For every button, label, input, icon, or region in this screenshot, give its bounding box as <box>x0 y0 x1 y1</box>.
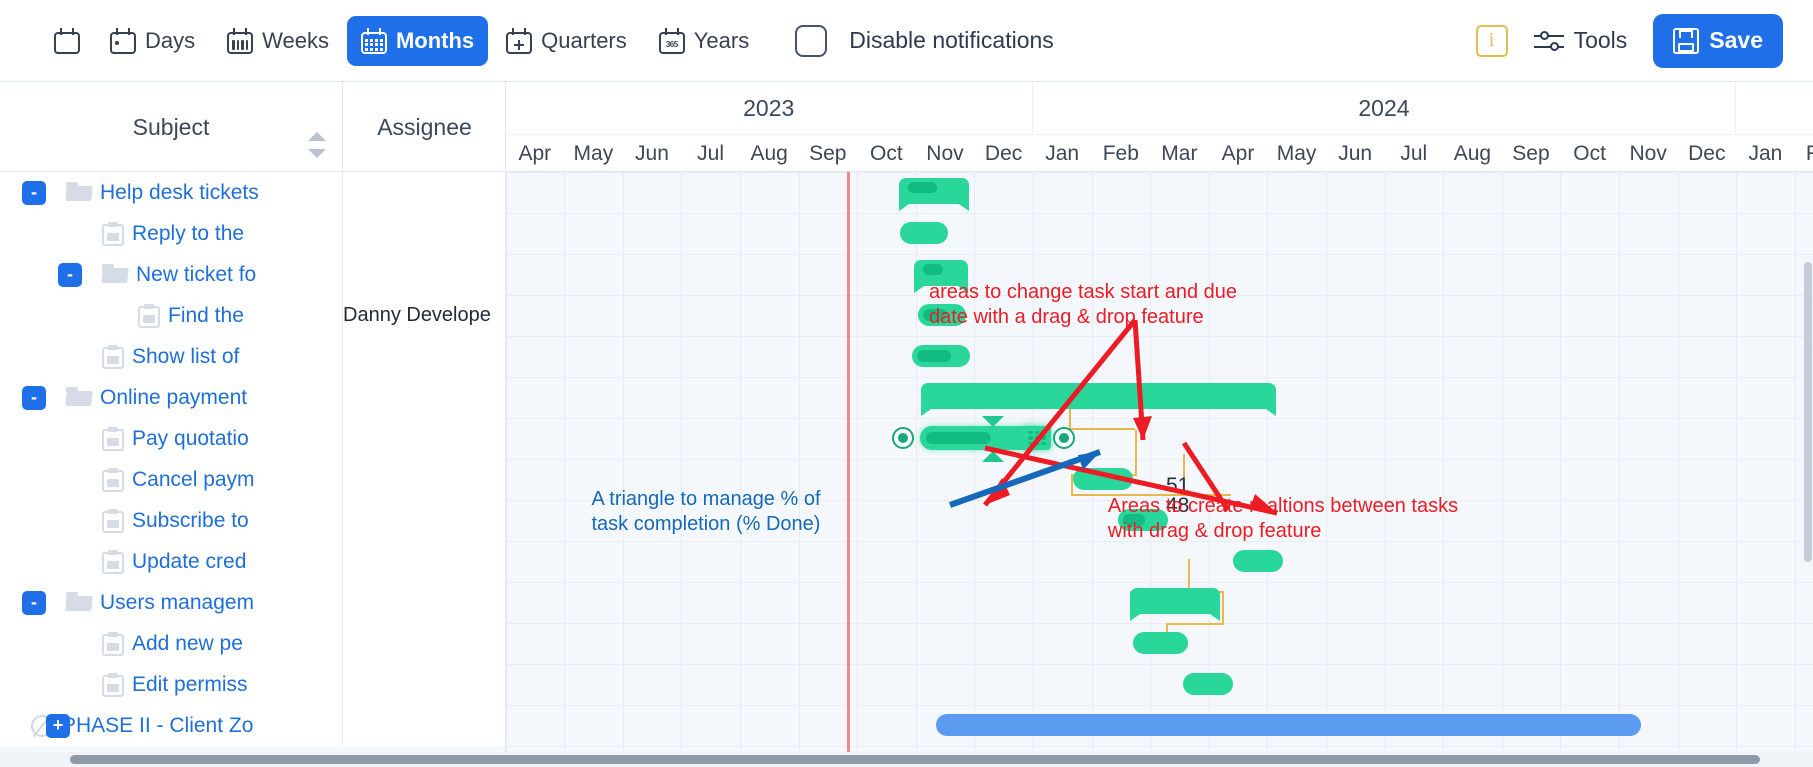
save-button[interactable]: Save <box>1653 14 1783 68</box>
timeline-month-Jul-2024: Jul <box>1385 135 1444 172</box>
cell-subject[interactable]: Add new pe <box>0 623 343 664</box>
sort-toggle-icon[interactable] <box>308 132 326 158</box>
dependency-link[interactable] <box>1069 428 1135 430</box>
task-name[interactable]: Add new pe <box>132 632 243 656</box>
cell-assignee[interactable] <box>343 664 506 705</box>
zoom-level-weeks-button[interactable]: Weeks <box>213 16 343 66</box>
task-icon <box>102 427 124 451</box>
folder-icon <box>66 387 92 408</box>
link-handle-end[interactable] <box>1053 427 1075 449</box>
chart-gridline-vertical <box>1619 172 1620 752</box>
timeline-month-Jul-2023: Jul <box>681 135 740 172</box>
timeline-header: 202320242025 AprMayJunJulAugSepOctNovDec… <box>506 82 1813 172</box>
toolbar: Days Weeks Months <box>0 0 1813 82</box>
task-name[interactable]: Update cred <box>132 550 246 574</box>
chart-gridline-vertical <box>1443 172 1444 752</box>
bar-resize-grip-handle[interactable] <box>1023 426 1051 450</box>
cell-subject[interactable]: New ticket fo <box>0 254 343 295</box>
chart-gridline-horizontal <box>506 377 1813 378</box>
gantt-bar-progress <box>917 350 951 362</box>
timeline-month-Jun-2024: Jun <box>1326 135 1385 172</box>
group-bar-wing-right <box>1263 407 1276 416</box>
cell-assignee[interactable]: Danny Develope <box>343 295 506 336</box>
horizontal-scrollbar[interactable] <box>0 752 1813 767</box>
task-grid[interactable]: Help desk tickets-Reply to theNew ticket… <box>0 172 506 752</box>
horizontal-scrollbar-thumb[interactable] <box>70 755 1760 764</box>
disable-notifications-checkbox[interactable] <box>795 25 827 57</box>
task-icon <box>102 222 124 246</box>
calendar-365-icon: 365 <box>659 28 685 54</box>
table-row[interactable]: Online payment- <box>0 377 506 418</box>
gantt-chart-area[interactable]: 5148 <box>506 172 1813 752</box>
task-icon <box>102 550 124 574</box>
task-icon <box>102 673 124 697</box>
zoom-level-years-button[interactable]: 365 Years <box>645 16 763 66</box>
cell-assignee[interactable] <box>343 254 506 295</box>
group-bar-wing-right <box>956 202 969 211</box>
chart-gridline-vertical <box>1736 172 1737 752</box>
zoom-level-days-label: Days <box>145 28 195 54</box>
cell-subject[interactable]: Pay quotatio <box>0 418 343 459</box>
collapse-toggle[interactable]: - <box>58 263 82 287</box>
chart-gridline-vertical <box>564 172 565 752</box>
task-name[interactable]: Cancel paym <box>132 468 255 492</box>
task-name[interactable]: Reply to the <box>132 222 244 246</box>
column-header-subject[interactable]: Subject <box>0 82 343 172</box>
gantt-group-bar[interactable] <box>921 383 1276 409</box>
cell-subject[interactable]: Subscribe to <box>0 500 343 541</box>
cell-assignee[interactable] <box>343 377 506 418</box>
table-row[interactable]: Pay quotatio <box>0 418 506 459</box>
table-row[interactable]: Show list of <box>0 336 506 377</box>
timeline-month-row: AprMayJunJulAugSepOctNovDecJanFebMarAprM… <box>506 134 1813 172</box>
gantt-group-bar[interactable] <box>1130 588 1220 614</box>
chart-gridline-vertical <box>1678 172 1679 752</box>
chart-gridline-horizontal <box>506 664 1813 665</box>
timeline-month-Apr-2023: Apr <box>506 135 564 172</box>
zoom-level-days-button[interactable]: Days <box>96 16 209 66</box>
chart-gridline-vertical <box>1033 172 1034 752</box>
chart-gridline-vertical <box>1795 172 1796 752</box>
timeline-month-Aug-2023: Aug <box>740 135 799 172</box>
collapse-toggle[interactable]: - <box>22 591 46 615</box>
timeline-month-Dec-2024: Dec <box>1678 135 1737 172</box>
chart-gridline-vertical <box>916 172 917 752</box>
table-row[interactable]: PHASE II - Client Zo+ <box>0 705 506 746</box>
task-icon <box>102 509 124 533</box>
table-row[interactable]: Reply to the <box>0 213 506 254</box>
save-label: Save <box>1709 27 1763 54</box>
timeline-month-Oct-2024: Oct <box>1560 135 1619 172</box>
task-icon <box>138 304 160 328</box>
gantt-task-bar[interactable] <box>900 222 948 244</box>
gantt-phase-bar[interactable] <box>936 714 1641 736</box>
timeline-month-Jan-2024: Jan <box>1033 135 1092 172</box>
table-row[interactable]: Find theDanny Develope <box>0 295 506 336</box>
timeline-year-row: 202320242025 <box>506 82 1813 134</box>
zoom-level-weeks-label: Weeks <box>262 28 329 54</box>
cell-assignee[interactable] <box>343 459 506 500</box>
task-name[interactable]: Find the <box>168 304 244 328</box>
group-bar-wing-left <box>921 407 934 416</box>
dependency-link[interactable] <box>1222 591 1224 625</box>
chart-gridline-vertical <box>1560 172 1561 752</box>
timeline-month-Feb-2024: Feb <box>1092 135 1151 172</box>
task-name[interactable]: Pay quotatio <box>132 427 249 451</box>
annotation-create-relations: Areas to create realtions between tasks … <box>1108 494 1458 544</box>
collapse-toggle[interactable]: - <box>22 386 46 410</box>
task-name[interactable]: Help desk tickets <box>100 181 259 205</box>
cell-assignee[interactable] <box>343 418 506 459</box>
gantt-bar-progress <box>908 182 937 193</box>
cell-subject[interactable]: Help desk tickets <box>0 172 343 213</box>
task-name[interactable]: PHASE II - Client Zo <box>62 714 253 738</box>
vertical-scrollbar[interactable] <box>1803 172 1813 752</box>
cell-subject[interactable]: Users managem <box>0 582 343 623</box>
link-handle-start[interactable] <box>892 427 914 449</box>
gantt-group-bar[interactable] <box>899 178 969 204</box>
timeline-year-2024: 2024 <box>1033 82 1736 134</box>
calendar-week-icon <box>227 28 253 54</box>
calendar-plus-icon <box>506 28 532 54</box>
chart-gridline-vertical <box>857 172 858 752</box>
timeline-month-Aug-2024: Aug <box>1443 135 1502 172</box>
dependency-link[interactable] <box>1135 430 1137 476</box>
chart-gridline-horizontal <box>506 459 1813 460</box>
chart-gridline-horizontal <box>506 254 1813 255</box>
table-row[interactable]: Users managem- <box>0 582 506 623</box>
gantt-app: Days Weeks Months <box>0 0 1813 767</box>
chart-gridline-vertical <box>1209 172 1210 752</box>
calendar-month-icon <box>361 28 387 54</box>
gantt-bar-progress <box>926 432 991 444</box>
chart-gridline-vertical <box>1326 172 1327 752</box>
chart-gridline-horizontal <box>506 172 1813 173</box>
chart-gridline-horizontal <box>506 746 1813 747</box>
table-row[interactable]: Add new pe <box>0 623 506 664</box>
cell-subject[interactable]: Update cred <box>0 541 343 582</box>
column-header-assignee[interactable]: Assignee <box>343 82 506 172</box>
chart-gridline-vertical <box>1092 172 1093 752</box>
folder-icon <box>66 592 92 613</box>
table-row[interactable]: Subscribe to <box>0 500 506 541</box>
floppy-disk-icon <box>1673 28 1699 54</box>
task-name[interactable]: Users managem <box>100 591 254 615</box>
table-row[interactable]: Update cred <box>0 541 506 582</box>
cell-assignee[interactable] <box>343 213 506 254</box>
timeline-month-Dec-2023: Dec <box>974 135 1033 172</box>
gantt-bar-progress <box>923 264 943 275</box>
folder-icon <box>66 182 92 203</box>
chart-gridline-vertical <box>799 172 800 752</box>
chart-gridline-vertical <box>681 172 682 752</box>
cell-subject[interactable]: Reply to the <box>0 213 343 254</box>
folder-icon <box>102 264 128 285</box>
chart-gridline-horizontal <box>506 582 1813 583</box>
cell-subject[interactable]: Edit permiss <box>0 664 343 705</box>
collapse-toggle[interactable]: - <box>22 181 46 205</box>
cell-assignee[interactable] <box>343 541 506 582</box>
table-row[interactable]: New ticket fo- <box>0 254 506 295</box>
chart-gridline-horizontal <box>506 418 1813 419</box>
annotation-drag-dates: areas to change task start and due date … <box>929 280 1237 330</box>
task-icon <box>102 345 124 369</box>
today-marker <box>847 172 850 752</box>
cell-assignee[interactable] <box>343 582 506 623</box>
chart-gridline-vertical <box>1267 172 1268 752</box>
task-icon <box>102 468 124 492</box>
zoom-level-quarters-label: Quarters <box>541 28 627 54</box>
chart-gridline-vertical <box>740 172 741 752</box>
table-row[interactable]: Edit permiss <box>0 664 506 705</box>
timeline-month-Feb-2025: Feb <box>1795 135 1813 172</box>
timeline-year-2025: 2025 <box>1736 82 1813 134</box>
expand-toggle[interactable]: + <box>46 714 70 738</box>
timeline-month-Apr-2024: Apr <box>1209 135 1268 172</box>
cell-assignee[interactable] <box>343 172 506 213</box>
cell-assignee[interactable] <box>343 705 506 746</box>
group-bar-wing-left <box>1130 612 1143 621</box>
chart-gridline-horizontal <box>506 705 1813 706</box>
progress-handle-triangle-bottom[interactable] <box>982 451 1004 462</box>
zoom-level-default-button[interactable] <box>42 16 92 66</box>
gantt-task-bar[interactable] <box>1073 468 1133 490</box>
timeline-month-Jun-2023: Jun <box>623 135 682 172</box>
cell-subject[interactable]: Show list of <box>0 336 343 377</box>
gantt-task-bar[interactable] <box>1183 673 1233 695</box>
vertical-scrollbar-thumb[interactable] <box>1804 262 1812 562</box>
progress-handle-triangle-top[interactable] <box>982 416 1004 427</box>
tools-label: Tools <box>1574 27 1628 54</box>
task-icon <box>102 632 124 656</box>
timeline-month-Mar-2024: Mar <box>1150 135 1209 172</box>
task-name[interactable]: Subscribe to <box>132 509 249 533</box>
cell-subject[interactable]: Online payment <box>0 377 343 418</box>
sliders-icon <box>1534 29 1564 53</box>
task-name[interactable]: Show list of <box>132 345 239 369</box>
zoom-level-months-label: Months <box>396 28 474 54</box>
calendar-day-icon <box>110 28 136 54</box>
timeline-month-Nov-2024: Nov <box>1619 135 1678 172</box>
info-icon[interactable]: i <box>1476 25 1508 57</box>
calendar-icon <box>54 28 80 54</box>
tools-button[interactable]: Tools <box>1534 27 1628 54</box>
chart-gridline-horizontal <box>506 213 1813 214</box>
dependency-link[interactable] <box>1166 623 1224 625</box>
task-name[interactable]: New ticket fo <box>136 263 256 287</box>
chart-gridline-vertical <box>1150 172 1151 752</box>
timeline-year-2023: 2023 <box>506 82 1033 134</box>
toolbar-actions: i Tools Save <box>1476 14 1813 68</box>
timeline-month-Jan-2025: Jan <box>1736 135 1795 172</box>
chart-gridline-vertical <box>623 172 624 752</box>
table-row[interactable]: Cancel paym <box>0 459 506 500</box>
timeline-month-Oct-2023: Oct <box>857 135 916 172</box>
task-name[interactable]: Online payment <box>100 386 247 410</box>
gantt-task-bar[interactable] <box>1133 632 1188 654</box>
timeline-month-Nov-2023: Nov <box>916 135 975 172</box>
disable-notifications-label: Disable notifications <box>849 27 1054 54</box>
chart-gridline-vertical <box>1502 172 1503 752</box>
timeline-month-Sep-2024: Sep <box>1502 135 1561 172</box>
table-row[interactable]: Help desk tickets- <box>0 172 506 213</box>
annotation-percent-done: A triangle to manage % of task completio… <box>591 487 820 537</box>
task-name[interactable]: Edit permiss <box>132 673 248 697</box>
chart-gridline-horizontal <box>506 336 1813 337</box>
zoom-level-quarters-button[interactable]: Quarters <box>492 16 641 66</box>
chart-gridline-vertical <box>506 172 507 752</box>
cell-subject[interactable]: Cancel paym <box>0 459 343 500</box>
gantt-task-bar[interactable] <box>912 345 970 367</box>
cell-subject[interactable]: Find the <box>0 295 343 336</box>
zoom-level-years-label: Years <box>694 28 749 54</box>
timeline-month-May-2024: May <box>1267 135 1326 172</box>
disable-notifications-group: Disable notifications <box>795 25 1054 57</box>
chart-gridline-horizontal <box>506 623 1813 624</box>
chart-gridline-vertical <box>974 172 975 752</box>
zoom-level-months-button[interactable]: Months <box>347 16 488 66</box>
zoom-level-group: Days Weeks Months <box>0 16 1054 66</box>
chart-gridline-vertical <box>1385 172 1386 752</box>
timeline-month-May-2023: May <box>564 135 623 172</box>
grid-header: Subject Assignee <box>0 82 506 172</box>
cell-assignee[interactable] <box>343 500 506 541</box>
gantt-task-bar[interactable] <box>1233 550 1283 572</box>
group-bar-wing-left <box>899 202 912 211</box>
cell-assignee[interactable] <box>343 336 506 377</box>
cell-assignee[interactable] <box>343 623 506 664</box>
timeline-month-Sep-2023: Sep <box>799 135 858 172</box>
